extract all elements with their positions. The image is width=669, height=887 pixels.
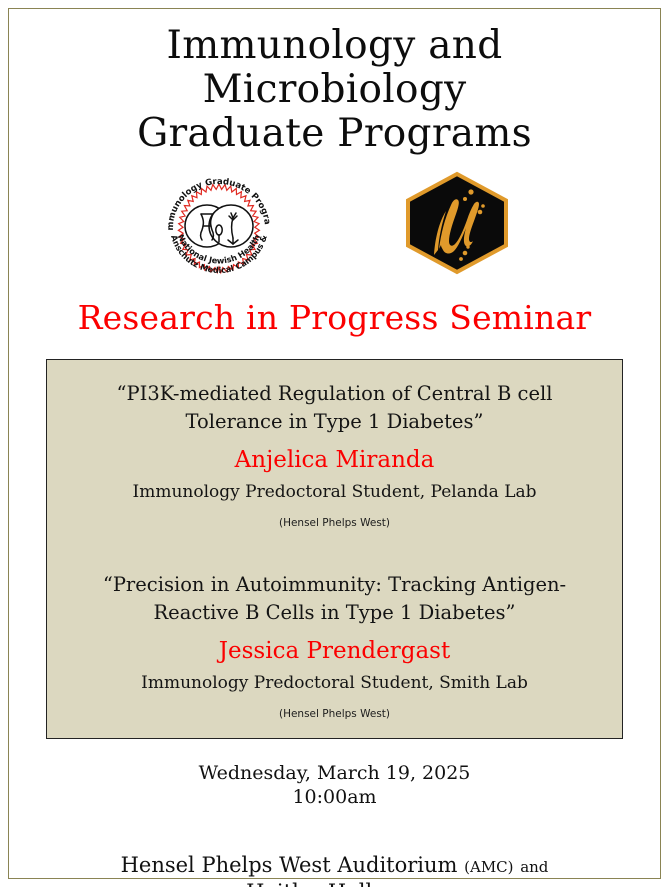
venue-line-1: Hensel Phelps West Auditorium (AMC) and <box>30 852 639 879</box>
hexagon-shape <box>408 174 506 272</box>
talk-entry: “Precision in Autoimmunity: Tracking Ant… <box>69 571 600 720</box>
venue-primary-name: Hensel Phelps West Auditorium <box>121 853 458 877</box>
talk-title: “Precision in Autoimmunity: Tracking Ant… <box>69 571 600 626</box>
venue-line-2: Heitler Hall (NJH) <box>30 879 639 887</box>
talk-room: (Hensel Phelps West) <box>69 708 600 721</box>
talk-entry: “PI3K-mediated Regulation of Central B c… <box>69 380 600 529</box>
logo-row: Immunology Graduate Program Anschutz Med… <box>30 170 639 276</box>
page-title-line-2: Graduate Programs <box>30 112 639 156</box>
event-location: Hensel Phelps West Auditorium (AMC) and … <box>30 852 639 887</box>
talk-speaker: Anjelica Miranda <box>69 447 600 475</box>
page-title-line-1: Immunology and Microbiology <box>30 24 639 112</box>
talk-title: “PI3K-mediated Regulation of Central B c… <box>69 380 600 435</box>
venue-conjunction: and <box>520 858 548 876</box>
seminar-heading: Research in Progress Seminar <box>30 298 639 337</box>
event-datetime: Wednesday, March 19, 2025 10:00am <box>30 761 639 810</box>
talk-affiliation: Immunology Predoctoral Student, Pelanda … <box>69 482 600 502</box>
talks-box: “PI3K-mediated Regulation of Central B c… <box>46 359 623 739</box>
venue-secondary-name: Heitler Hall <box>246 880 372 887</box>
venue-primary-campus: (AMC) <box>464 858 513 876</box>
seminar-flyer: Immunology and Microbiology Graduate Pro… <box>0 0 669 887</box>
microbiology-mu-hexagon-logo <box>401 171 513 275</box>
talk-affiliation: Immunology Predoctoral Student, Smith La… <box>69 673 600 693</box>
event-date: Wednesday, March 19, 2025 <box>30 761 639 785</box>
talk-room: (Hensel Phelps West) <box>69 517 600 530</box>
flyer-content: Immunology and Microbiology Graduate Pro… <box>0 0 669 887</box>
page-title: Immunology and Microbiology Graduate Pro… <box>30 0 639 156</box>
immunology-graduate-program-logo: Immunology Graduate Program Anschutz Med… <box>157 170 281 276</box>
event-time: 10:00am <box>30 785 639 809</box>
talk-speaker: Jessica Prendergast <box>69 638 600 666</box>
